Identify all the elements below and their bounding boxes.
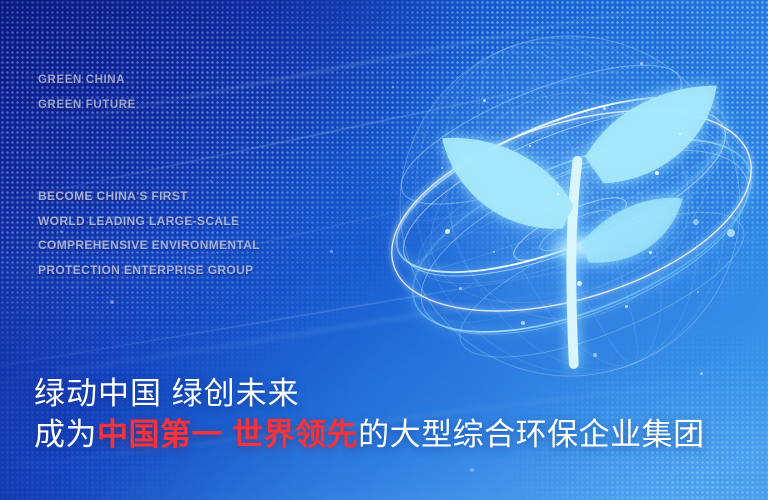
environmental-banner: GREEN CHINA GREEN FUTURE BECOME CHINA'S … — [0, 0, 768, 500]
headline-emphasis-china-first: 中国第一 — [97, 417, 223, 452]
english-tagline: GREEN CHINA GREEN FUTURE — [38, 68, 136, 118]
headline-emphasis-world-leading: 世界领先 — [232, 417, 358, 452]
tagline-line-2: GREEN FUTURE — [38, 93, 136, 118]
statement-line-1: BECOME CHINA'S FIRST — [38, 184, 260, 209]
chinese-headline: 绿动中国 绿创未来 成为中国第一 世界领先的大型综合环保企业集团 — [34, 374, 754, 456]
headline-prefix: 成为 — [34, 417, 97, 452]
statement-line-3: COMPREHENSIVE ENVIRONMENTAL — [38, 233, 260, 258]
english-statement: BECOME CHINA'S FIRST WORLD LEADING LARGE… — [38, 184, 260, 282]
headline-gap — [223, 417, 232, 452]
headline-line-1: 绿动中国 绿创未来 — [34, 374, 754, 414]
statement-line-2: WORLD LEADING LARGE-SCALE — [38, 209, 260, 234]
statement-line-4: PROTECTION ENTERPRISE GROUP — [38, 258, 260, 283]
headline-suffix: 的大型综合环保企业集团 — [358, 417, 705, 452]
tagline-line-1: GREEN CHINA — [38, 68, 136, 93]
headline-line-2: 成为中国第一 世界领先的大型综合环保企业集团 — [34, 414, 754, 456]
